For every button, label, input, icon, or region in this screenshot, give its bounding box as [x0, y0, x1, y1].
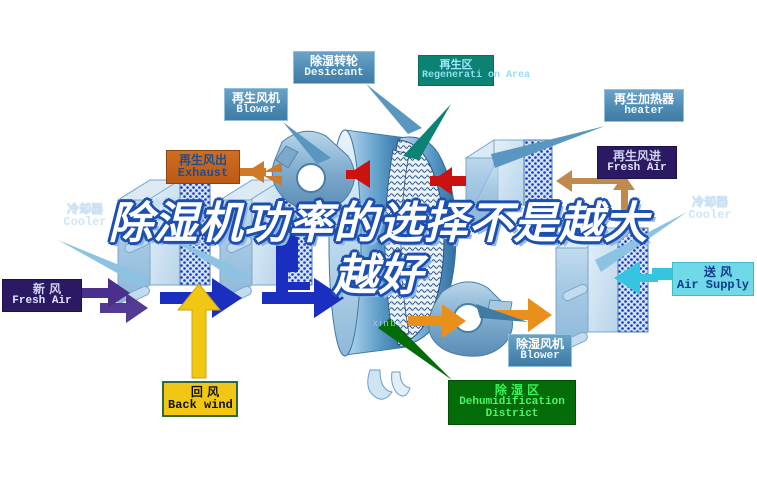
- label-regen-blower: 再生风机 Blower: [224, 88, 288, 121]
- label-cooler-left-en: Cooler: [57, 216, 113, 229]
- label-regen-heater-cn: 再生加热器: [609, 93, 679, 106]
- label-desiccant-wheel-en: Desiccant: [298, 68, 370, 80]
- label-back-wind: 回 风 Back wind: [162, 381, 238, 417]
- diagram-canvas: [0, 0, 757, 488]
- label-regen-area: 再生区 Regenerati on Area: [418, 55, 494, 86]
- label-air-supply: 送 风 Air Supply: [672, 262, 754, 296]
- label-dehumid-district: 除 湿 区 Dehumidification District: [448, 380, 576, 425]
- label-air-supply-cn: 送 风: [677, 266, 749, 279]
- label-regen-blower-en: Blower: [229, 105, 283, 117]
- label-cooler-left: 冷却器 Cooler: [57, 203, 113, 229]
- label-fresh-air-in-en: Fresh Air: [7, 296, 77, 308]
- label-regen-fresh-air: 再生风进 Fresh Air: [597, 146, 677, 179]
- label-regen-heater: 再生加热器 heater: [604, 89, 684, 122]
- label-dehumid-district-cn: 除 湿 区: [453, 384, 571, 397]
- label-air-supply-en: Air Supply: [677, 279, 749, 292]
- label-regen-area-en: Regenerati on Area: [422, 71, 490, 82]
- label-back-wind-en: Back wind: [168, 399, 232, 412]
- label-dehumid-district-en: Dehumidification District: [453, 397, 571, 421]
- label-cooler-right-cn: 冷却器: [682, 196, 738, 209]
- label-regen-exhaust-en: Exhaust: [171, 167, 235, 180]
- label-desiccant-wheel-cn: 除湿转轮: [298, 55, 370, 68]
- label-cooler-right: 冷却器 Cooler: [682, 196, 738, 222]
- label-cooler-right-en: Cooler: [682, 209, 738, 222]
- label-cooler-mid: 冷却器: [140, 198, 196, 211]
- label-dehumid-blower: 除湿风机 Blower: [508, 334, 572, 367]
- label-cooler-mid-cn: 冷却器: [140, 198, 196, 211]
- label-desiccant-wheel: 除湿转轮 Desiccant: [293, 51, 375, 84]
- dehumidifier-diagram: 除湿机功率的选择不是越大 越好 xinba 除湿转轮 Desiccant 再生风…: [0, 0, 757, 488]
- label-regen-blower-cn: 再生风机: [229, 92, 283, 105]
- label-regen-exhaust-cn: 再生风出: [171, 154, 235, 167]
- label-regen-fresh-air-en: Fresh Air: [602, 163, 672, 175]
- label-regen-fresh-air-cn: 再生风进: [602, 150, 672, 163]
- label-dehumid-blower-en: Blower: [513, 351, 567, 363]
- label-regen-heater-en: heater: [609, 106, 679, 118]
- watermark: xinba: [373, 318, 405, 328]
- arrow-regen-fresh: [556, 170, 635, 237]
- label-cooler-left-cn: 冷却器: [57, 203, 113, 216]
- label-dehumid-blower-cn: 除湿风机: [513, 338, 567, 351]
- label-back-wind-cn: 回 风: [168, 386, 232, 399]
- label-fresh-air-in-cn: 新 风: [7, 283, 77, 296]
- label-regen-exhaust: 再生风出 Exhaust: [166, 150, 240, 184]
- label-fresh-air-in: 新 风 Fresh Air: [2, 279, 82, 312]
